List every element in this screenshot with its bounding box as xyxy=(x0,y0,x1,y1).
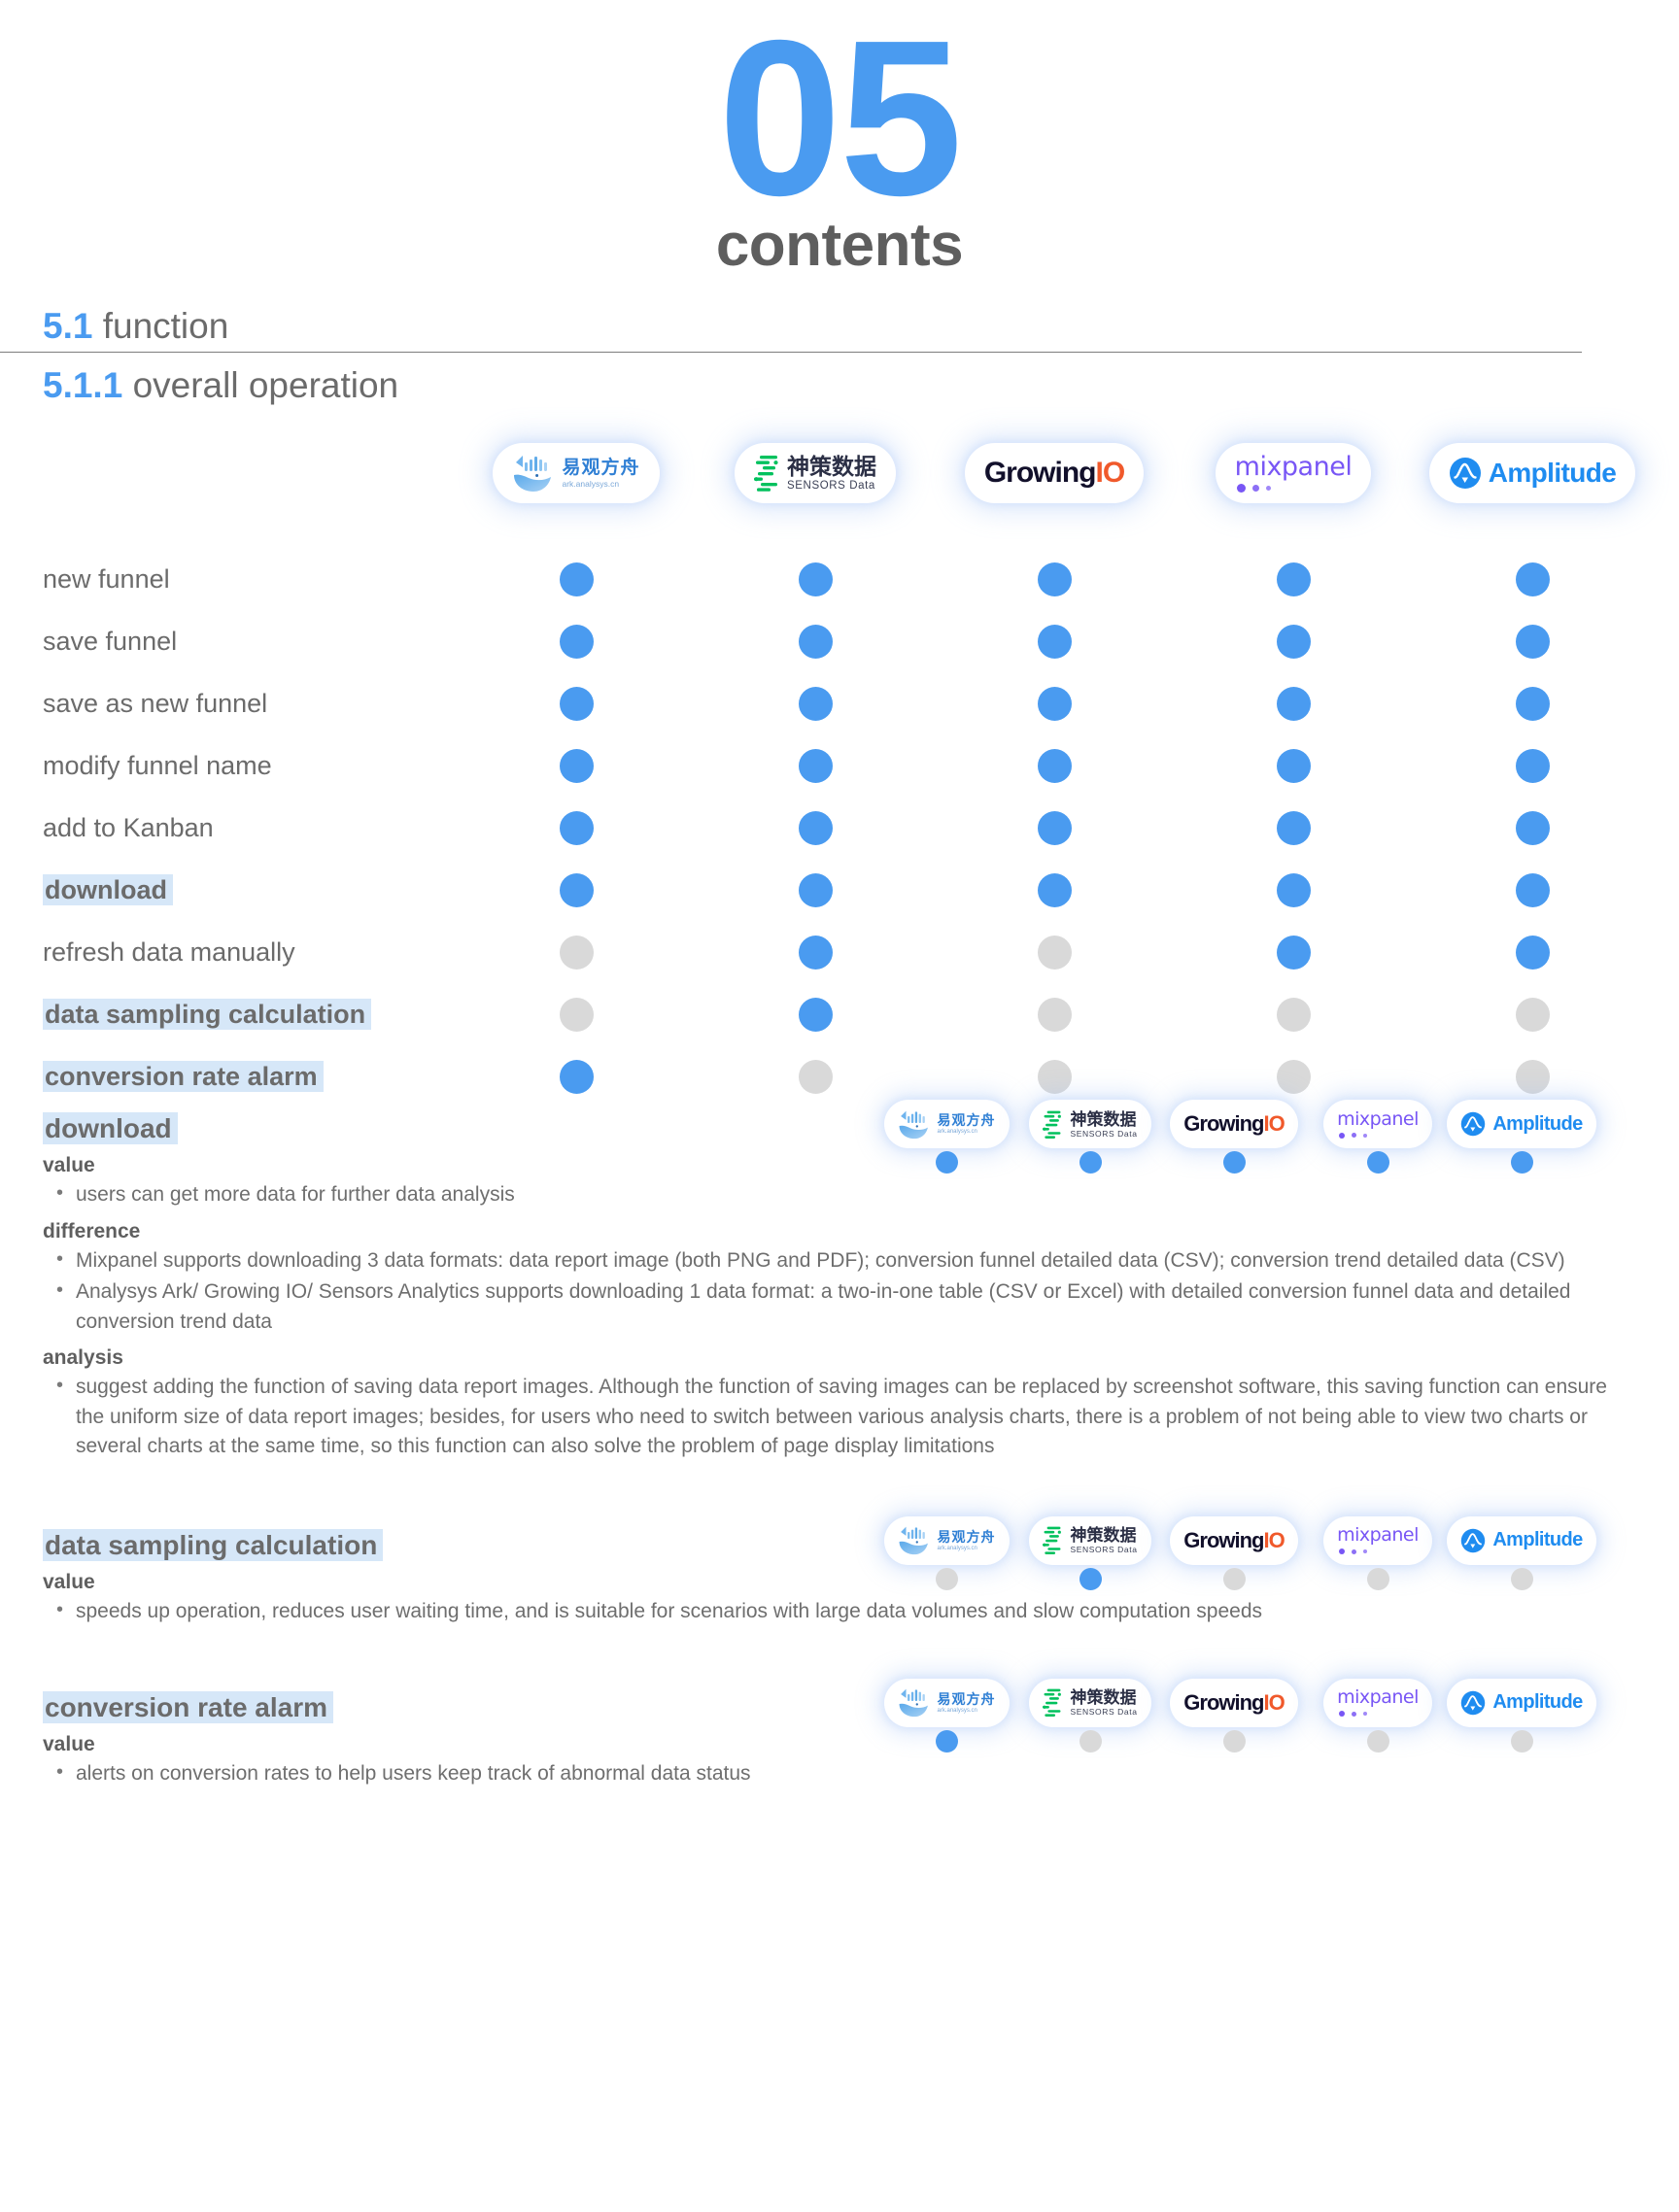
detail-logo-col-sensors: 神策数据SENSORS Data xyxy=(1018,1516,1162,1565)
matrix-cell-amplitude xyxy=(1413,936,1652,970)
support-dot-on xyxy=(1516,811,1550,845)
detail-logo-col-mixpanel: mixpanel xyxy=(1306,1100,1450,1148)
matrix-logo-col-ark: 易观方舟ark.analysys.cn xyxy=(457,443,696,503)
logo-ark: 易观方舟ark.analysys.cn xyxy=(898,1687,996,1718)
ark-logo-cn: 易观方舟 xyxy=(938,1692,996,1706)
support-dot-off xyxy=(1223,1730,1246,1753)
amplitude-logo-mark xyxy=(1460,1690,1486,1716)
detail-bullet-list: speeds up operation, reduces user waitin… xyxy=(43,1597,1636,1626)
matrix-row-label-text: download xyxy=(43,874,173,905)
matrix-cell-mixpanel xyxy=(1174,811,1413,845)
detail-bullet-list: Mixpanel supports downloading 3 data for… xyxy=(43,1246,1636,1337)
detail-dot-col-amplitude xyxy=(1450,1568,1593,1590)
matrix-cell-amplitude xyxy=(1413,687,1652,721)
support-dot-on xyxy=(1038,625,1072,659)
matrix-row-cells xyxy=(457,749,1652,783)
support-dot-on xyxy=(799,687,833,721)
support-dot-on xyxy=(1223,1151,1246,1174)
support-dot-off xyxy=(1516,1060,1550,1094)
matrix-row-label: data sampling calculation xyxy=(0,1000,457,1030)
detail-bullet-list: suggest adding the function of saving da… xyxy=(43,1373,1636,1461)
amplitude-logo-word: Amplitude xyxy=(1489,458,1616,489)
matrix-row-cells xyxy=(457,562,1652,596)
support-dot-on xyxy=(1516,625,1550,659)
ark-logo-url: ark.analysys.cn xyxy=(562,480,639,489)
detail-dot-col-ark xyxy=(874,1568,1018,1590)
detail-sections: download易观方舟ark.analysys.cn神策数据SENSORS D… xyxy=(0,1113,1679,1788)
section-heading-5-1-1: 5.1.1 overall operation xyxy=(0,362,1679,408)
vendor-logo-sensors: 神策数据SENSORS Data xyxy=(1029,1100,1150,1148)
matrix-cell-sensors xyxy=(696,998,935,1032)
vendor-logo-amplitude: Amplitude xyxy=(1447,1516,1595,1565)
amplitude-logo-word: Amplitude xyxy=(1492,1113,1582,1136)
logo-growingio: GrowingIO xyxy=(1183,1111,1284,1137)
matrix-row-label-text: conversion rate alarm xyxy=(43,1061,324,1092)
vendor-logo-ark: 易观方舟ark.analysys.cn xyxy=(884,1516,1010,1565)
matrix-row: save as new funnel xyxy=(0,672,1679,734)
detail-dot-col-sensors xyxy=(1018,1151,1162,1174)
matrix-cell-sensors xyxy=(696,687,935,721)
section-number-5-1: 5.1 xyxy=(43,306,92,346)
matrix-row: modify funnel name xyxy=(0,734,1679,797)
ark-logo-url: ark.analysys.cn xyxy=(938,1129,996,1135)
matrix-cell-ark xyxy=(457,749,696,783)
detail-logo-col-ark: 易观方舟ark.analysys.cn xyxy=(874,1100,1018,1148)
mixpanel-logo-dots xyxy=(1339,1133,1367,1139)
matrix-row-cells xyxy=(457,998,1652,1032)
ark-logo-url: ark.analysys.cn xyxy=(938,1546,996,1551)
growingio-logo-io: IO xyxy=(1095,457,1124,489)
detail-bullet-item: speeds up operation, reduces user waitin… xyxy=(43,1597,1607,1626)
detail-dot-col-amplitude xyxy=(1450,1151,1593,1174)
vendor-logo-ark: 易观方舟ark.analysys.cn xyxy=(884,1100,1010,1148)
support-dot-on xyxy=(1038,811,1072,845)
matrix-row: conversion rate alarm xyxy=(0,1045,1679,1107)
logo-mixpanel: mixpanel xyxy=(1235,454,1353,493)
logo-growingio: GrowingIO xyxy=(1183,1690,1284,1716)
vendor-logo-growingio: GrowingIO xyxy=(1170,1679,1297,1727)
sensors-logo-cn: 神策数据 xyxy=(787,456,876,478)
logo-amplitude: Amplitude xyxy=(1449,457,1616,490)
support-dot-on xyxy=(1367,1151,1389,1174)
support-dot-on xyxy=(1516,687,1550,721)
matrix-logo-col-growingio: GrowingIO xyxy=(935,443,1174,503)
matrix-cell-ark xyxy=(457,936,696,970)
matrix-cell-sensors xyxy=(696,625,935,659)
detail-logo-col-ark: 易观方舟ark.analysys.cn xyxy=(874,1679,1018,1727)
support-dot-on xyxy=(1277,625,1311,659)
support-dot-on xyxy=(560,625,594,659)
matrix-cell-mixpanel xyxy=(1174,625,1413,659)
sensors-logo-cn: 神策数据 xyxy=(1070,1527,1137,1544)
growingio-logo-io: IO xyxy=(1263,1528,1284,1552)
support-dot-on xyxy=(799,625,833,659)
support-dot-off xyxy=(1511,1730,1533,1753)
vendor-logo-ark: 易观方舟ark.analysys.cn xyxy=(884,1679,1010,1727)
ark-logo-mark xyxy=(898,1525,931,1555)
ark-logo-mark xyxy=(898,1687,931,1718)
vendor-logo-amplitude: Amplitude xyxy=(1447,1100,1595,1148)
support-dot-on xyxy=(560,562,594,596)
matrix-cell-sensors xyxy=(696,749,935,783)
detail-title: download xyxy=(43,1113,178,1144)
sensors-logo-mark xyxy=(1043,1109,1062,1140)
logo-mixpanel: mixpanel xyxy=(1337,1110,1419,1139)
detail-support-dot-row xyxy=(874,1730,1593,1753)
matrix-cell-growingio xyxy=(935,873,1174,907)
matrix-row-cells xyxy=(457,936,1652,970)
matrix-cell-mixpanel xyxy=(1174,998,1413,1032)
detail-dot-col-growingio xyxy=(1162,1568,1306,1590)
support-dot-off xyxy=(799,1060,833,1094)
support-dot-on xyxy=(560,749,594,783)
support-dot-off xyxy=(1079,1730,1102,1753)
matrix-row-label: download xyxy=(0,875,457,905)
matrix-cell-growingio xyxy=(935,936,1174,970)
ark-logo-cn: 易观方舟 xyxy=(938,1530,996,1544)
matrix-row-cells xyxy=(457,811,1652,845)
page-header: 05 contents xyxy=(0,0,1679,276)
detail-dot-col-ark xyxy=(874,1151,1018,1174)
detail-logo-col-amplitude: Amplitude xyxy=(1450,1516,1593,1565)
detail-section-conversion-rate-alarm: conversion rate alarm易观方舟ark.analysys.cn… xyxy=(0,1692,1679,1788)
logo-sensors: 神策数据SENSORS Data xyxy=(1043,1525,1137,1555)
matrix-row-label: add to Kanban xyxy=(0,813,457,843)
vendor-logo-amplitude: Amplitude xyxy=(1429,443,1635,503)
detail-logo-col-sensors: 神策数据SENSORS Data xyxy=(1018,1679,1162,1727)
matrix-cell-mixpanel xyxy=(1174,873,1413,907)
support-dot-on xyxy=(1277,811,1311,845)
sensors-logo-en: SENSORS Data xyxy=(1070,1130,1137,1139)
section-heading-5-1: 5.1 function xyxy=(0,303,1582,353)
matrix-logo-col-amplitude: Amplitude xyxy=(1413,443,1652,503)
matrix-vendor-logo-row: 易观方舟ark.analysys.cn神策数据SENSORS DataGrowi… xyxy=(457,443,1652,503)
mixpanel-logo-word: mixpanel xyxy=(1337,1526,1419,1545)
ark-logo-mark xyxy=(512,454,555,493)
logo-ark: 易观方舟ark.analysys.cn xyxy=(512,454,639,493)
support-dot-on xyxy=(799,873,833,907)
support-dot-on xyxy=(936,1730,958,1753)
sensors-logo-cn: 神策数据 xyxy=(1070,1111,1137,1128)
detail-vendor-logo-row: 易观方舟ark.analysys.cn神策数据SENSORS DataGrowi… xyxy=(874,1516,1593,1565)
amplitude-logo-word: Amplitude xyxy=(1492,1529,1582,1551)
support-dot-on xyxy=(1277,687,1311,721)
matrix-cell-mixpanel xyxy=(1174,562,1413,596)
logo-ark: 易观方舟ark.analysys.cn xyxy=(898,1109,996,1140)
matrix-cell-ark xyxy=(457,687,696,721)
support-dot-off xyxy=(1511,1568,1533,1590)
logo-sensors: 神策数据SENSORS Data xyxy=(1043,1109,1137,1140)
matrix-cell-amplitude xyxy=(1413,998,1652,1032)
vendor-logo-mixpanel: mixpanel xyxy=(1216,443,1372,503)
detail-logo-col-mixpanel: mixpanel xyxy=(1306,1679,1450,1727)
matrix-cell-growingio xyxy=(935,811,1174,845)
detail-bullet-item: users can get more data for further data… xyxy=(43,1180,1607,1209)
support-dot-on xyxy=(560,873,594,907)
detail-bullet-item: alerts on conversion rates to help users… xyxy=(43,1759,1607,1788)
matrix-cell-ark xyxy=(457,1060,696,1094)
matrix-cell-mixpanel xyxy=(1174,687,1413,721)
vendor-logo-sensors: 神策数据SENSORS Data xyxy=(735,443,896,503)
matrix-cell-mixpanel xyxy=(1174,1060,1413,1094)
section-title-5-1-1: overall operation xyxy=(133,365,399,405)
detail-bullet-item: suggest adding the function of saving da… xyxy=(43,1373,1607,1461)
detail-logo-col-sensors: 神策数据SENSORS Data xyxy=(1018,1100,1162,1148)
matrix-cell-ark xyxy=(457,625,696,659)
detail-dot-col-sensors xyxy=(1018,1730,1162,1753)
matrix-cell-mixpanel xyxy=(1174,749,1413,783)
support-dot-on xyxy=(1516,873,1550,907)
support-dot-on xyxy=(936,1151,958,1174)
detail-vendor-logo-row: 易观方舟ark.analysys.cn神策数据SENSORS DataGrowi… xyxy=(874,1100,1593,1148)
matrix-cell-growingio xyxy=(935,1060,1174,1094)
support-dot-off xyxy=(1277,1060,1311,1094)
matrix-logo-col-mixpanel: mixpanel xyxy=(1174,443,1413,503)
sensors-logo-mark xyxy=(1043,1525,1062,1555)
matrix-cell-amplitude xyxy=(1413,625,1652,659)
vendor-logo-mixpanel: mixpanel xyxy=(1323,1100,1432,1148)
support-dot-on xyxy=(1277,873,1311,907)
chapter-number: 05 xyxy=(0,17,1679,221)
sensors-logo-cn: 神策数据 xyxy=(1070,1689,1137,1706)
vendor-logo-sensors: 神策数据SENSORS Data xyxy=(1029,1679,1150,1727)
logo-sensors: 神策数据SENSORS Data xyxy=(1043,1687,1137,1718)
detail-dot-col-mixpanel xyxy=(1306,1568,1450,1590)
detail-bullet-item: Analysys Ark/ Growing IO/ Sensors Analyt… xyxy=(43,1277,1607,1337)
vendor-logo-sensors: 神策数据SENSORS Data xyxy=(1029,1516,1150,1565)
matrix-cell-ark xyxy=(457,562,696,596)
support-dot-off xyxy=(1367,1568,1389,1590)
sensors-logo-en: SENSORS Data xyxy=(1070,1546,1137,1554)
detail-header: data sampling calculation易观方舟ark.analysy… xyxy=(43,1530,1636,1561)
support-dot-off xyxy=(1223,1568,1246,1590)
vendor-logo-mixpanel: mixpanel xyxy=(1323,1679,1432,1727)
growingio-logo-io: IO xyxy=(1263,1690,1284,1715)
matrix-row-label: modify funnel name xyxy=(0,751,457,781)
support-dot-on xyxy=(799,936,833,970)
support-dot-on xyxy=(1038,749,1072,783)
matrix-row-label: conversion rate alarm xyxy=(0,1062,457,1092)
support-dot-on xyxy=(1038,873,1072,907)
matrix-cell-amplitude xyxy=(1413,1060,1652,1094)
detail-support-dot-row xyxy=(874,1568,1593,1590)
support-dot-on xyxy=(799,749,833,783)
matrix-cell-amplitude xyxy=(1413,811,1652,845)
detail-header: download易观方舟ark.analysys.cn神策数据SENSORS D… xyxy=(43,1113,1636,1144)
detail-logo-col-growingio: GrowingIO xyxy=(1162,1100,1306,1148)
detail-bullet-item: Mixpanel supports downloading 3 data for… xyxy=(43,1246,1607,1276)
support-dot-on xyxy=(1038,687,1072,721)
sensors-logo-en: SENSORS Data xyxy=(1070,1708,1137,1717)
support-dot-on xyxy=(1079,1151,1102,1174)
logo-growingio: GrowingIO xyxy=(984,457,1124,490)
detail-dot-col-growingio xyxy=(1162,1730,1306,1753)
section-title-5-1: function xyxy=(103,306,229,346)
logo-amplitude: Amplitude xyxy=(1460,1690,1582,1716)
detail-dot-col-growingio xyxy=(1162,1151,1306,1174)
matrix-cell-growingio xyxy=(935,998,1174,1032)
support-dot-off xyxy=(1367,1730,1389,1753)
matrix-row: download xyxy=(0,859,1679,921)
support-dot-on xyxy=(560,1060,594,1094)
sensors-logo-mark xyxy=(1043,1687,1062,1718)
vendor-logo-growingio: GrowingIO xyxy=(965,443,1144,503)
detail-support-dot-row xyxy=(874,1151,1593,1174)
vendor-logo-ark: 易观方舟ark.analysys.cn xyxy=(493,443,659,503)
matrix-row: save funnel xyxy=(0,610,1679,672)
support-dot-on xyxy=(1516,936,1550,970)
sensors-logo-mark xyxy=(754,454,779,493)
matrix-cell-growingio xyxy=(935,687,1174,721)
ark-logo-cn: 易观方舟 xyxy=(938,1113,996,1127)
vendor-logo-mixpanel: mixpanel xyxy=(1323,1516,1432,1565)
vendor-logo-growingio: GrowingIO xyxy=(1170,1100,1297,1148)
matrix-cell-amplitude xyxy=(1413,749,1652,783)
support-dot-on xyxy=(799,562,833,596)
matrix-cell-growingio xyxy=(935,625,1174,659)
detail-title-text: conversion rate alarm xyxy=(43,1691,333,1723)
support-dot-on xyxy=(799,811,833,845)
detail-title: conversion rate alarm xyxy=(43,1692,333,1723)
detail-dot-col-amplitude xyxy=(1450,1730,1593,1753)
detail-logo-col-amplitude: Amplitude xyxy=(1450,1100,1593,1148)
support-dot-on xyxy=(1511,1151,1533,1174)
detail-dot-col-mixpanel xyxy=(1306,1151,1450,1174)
vendor-logo-amplitude: Amplitude xyxy=(1447,1679,1595,1727)
ark-logo-cn: 易观方舟 xyxy=(562,459,639,477)
logo-sensors: 神策数据SENSORS Data xyxy=(754,454,876,493)
matrix-row-label: save as new funnel xyxy=(0,689,457,719)
detail-dot-col-mixpanel xyxy=(1306,1730,1450,1753)
support-dot-off xyxy=(560,936,594,970)
matrix-cell-sensors xyxy=(696,873,935,907)
matrix-cell-growingio xyxy=(935,562,1174,596)
mixpanel-logo-word: mixpanel xyxy=(1235,454,1353,480)
detail-sub-label: difference xyxy=(43,1220,1636,1243)
support-dot-on xyxy=(560,811,594,845)
amplitude-logo-mark xyxy=(1460,1528,1486,1553)
matrix-cell-amplitude xyxy=(1413,873,1652,907)
matrix-row-label: new funnel xyxy=(0,564,457,595)
detail-title-text: download xyxy=(43,1112,178,1144)
support-dot-on xyxy=(1277,749,1311,783)
support-dot-off xyxy=(1277,998,1311,1032)
support-dot-off xyxy=(560,998,594,1032)
matrix-row: add to Kanban xyxy=(0,797,1679,859)
matrix-cell-sensors xyxy=(696,811,935,845)
matrix-row-cells xyxy=(457,625,1652,659)
matrix-row-label: save funnel xyxy=(0,627,457,657)
support-dot-off xyxy=(1038,936,1072,970)
feature-comparison-matrix: 易观方舟ark.analysys.cn神策数据SENSORS DataGrowi… xyxy=(0,443,1679,1045)
detail-logo-col-mixpanel: mixpanel xyxy=(1306,1516,1450,1565)
detail-vendor-logo-row: 易观方舟ark.analysys.cn神策数据SENSORS DataGrowi… xyxy=(874,1679,1593,1727)
matrix-cell-sensors xyxy=(696,936,935,970)
matrix-row-label-text: data sampling calculation xyxy=(43,999,371,1030)
support-dot-on xyxy=(799,998,833,1032)
detail-section-download: download易观方舟ark.analysys.cn神策数据SENSORS D… xyxy=(0,1113,1679,1461)
support-dot-on xyxy=(1079,1568,1102,1590)
matrix-body: new funnelsave funnelsave as new funnelm… xyxy=(0,548,1679,1107)
support-dot-off xyxy=(1038,998,1072,1032)
support-dot-on xyxy=(1038,562,1072,596)
detail-logo-col-amplitude: Amplitude xyxy=(1450,1679,1593,1727)
mixpanel-logo-word: mixpanel xyxy=(1337,1110,1419,1129)
mixpanel-logo-dots xyxy=(1339,1548,1367,1554)
detail-logo-col-growingio: GrowingIO xyxy=(1162,1679,1306,1727)
ark-logo-mark xyxy=(898,1109,931,1140)
matrix-row-label: refresh data manually xyxy=(0,937,457,968)
matrix-row-cells xyxy=(457,873,1652,907)
matrix-cell-growingio xyxy=(935,749,1174,783)
matrix-cell-ark xyxy=(457,873,696,907)
matrix-row: new funnel xyxy=(0,548,1679,610)
amplitude-logo-mark xyxy=(1449,457,1482,490)
mixpanel-logo-dots xyxy=(1237,484,1271,493)
matrix-cell-ark xyxy=(457,998,696,1032)
matrix-row: refresh data manually xyxy=(0,921,1679,983)
detail-title: data sampling calculation xyxy=(43,1530,383,1561)
support-dot-off xyxy=(1038,1060,1072,1094)
matrix-cell-sensors xyxy=(696,1060,935,1094)
detail-logo-col-growingio: GrowingIO xyxy=(1162,1516,1306,1565)
logo-mixpanel: mixpanel xyxy=(1337,1526,1419,1554)
support-dot-on xyxy=(1277,562,1311,596)
mixpanel-logo-dots xyxy=(1339,1711,1367,1717)
detail-dot-col-sensors xyxy=(1018,1568,1162,1590)
amplitude-logo-word: Amplitude xyxy=(1492,1691,1582,1714)
amplitude-logo-mark xyxy=(1460,1111,1486,1137)
logo-amplitude: Amplitude xyxy=(1460,1528,1582,1553)
sensors-logo-en: SENSORS Data xyxy=(787,481,876,493)
contents-word: contents xyxy=(0,216,1679,276)
matrix-row: data sampling calculation xyxy=(0,983,1679,1045)
detail-sub-label: analysis xyxy=(43,1346,1636,1370)
detail-dot-col-ark xyxy=(874,1730,1018,1753)
support-dot-on xyxy=(1516,749,1550,783)
detail-bullet-list: users can get more data for further data… xyxy=(43,1180,1636,1209)
matrix-cell-ark xyxy=(457,811,696,845)
mixpanel-logo-word: mixpanel xyxy=(1337,1688,1419,1707)
support-dot-on xyxy=(1516,562,1550,596)
matrix-row-cells xyxy=(457,687,1652,721)
section-number-5-1-1: 5.1.1 xyxy=(43,365,122,405)
support-dot-on xyxy=(560,687,594,721)
logo-ark: 易观方舟ark.analysys.cn xyxy=(898,1525,996,1555)
support-dot-off xyxy=(1516,998,1550,1032)
growingio-logo-io: IO xyxy=(1263,1111,1284,1136)
detail-logo-col-ark: 易观方舟ark.analysys.cn xyxy=(874,1516,1018,1565)
logo-amplitude: Amplitude xyxy=(1460,1111,1582,1137)
logo-growingio: GrowingIO xyxy=(1183,1528,1284,1553)
vendor-logo-growingio: GrowingIO xyxy=(1170,1516,1297,1565)
detail-bullet-list: alerts on conversion rates to help users… xyxy=(43,1759,1636,1788)
detail-section-data-sampling-calculation: data sampling calculation易观方舟ark.analysy… xyxy=(0,1530,1679,1626)
ark-logo-url: ark.analysys.cn xyxy=(938,1708,996,1714)
support-dot-on xyxy=(1277,936,1311,970)
matrix-row-cells xyxy=(457,1060,1652,1094)
matrix-cell-sensors xyxy=(696,562,935,596)
logo-mixpanel: mixpanel xyxy=(1337,1688,1419,1717)
support-dot-off xyxy=(936,1568,958,1590)
matrix-logo-col-sensors: 神策数据SENSORS Data xyxy=(696,443,935,503)
detail-header: conversion rate alarm易观方舟ark.analysys.cn… xyxy=(43,1692,1636,1723)
matrix-cell-mixpanel xyxy=(1174,936,1413,970)
detail-title-text: data sampling calculation xyxy=(43,1529,383,1561)
matrix-cell-amplitude xyxy=(1413,562,1652,596)
